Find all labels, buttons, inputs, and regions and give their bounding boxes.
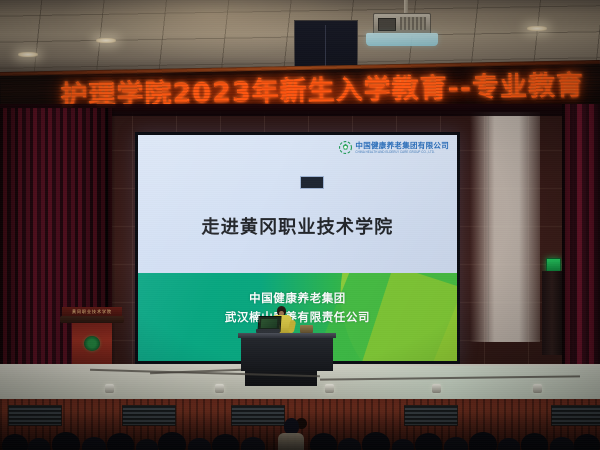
foreground-shadow (0, 406, 600, 450)
slide-title: 走进黄冈职业技术学院 (138, 213, 457, 239)
banner-text: 中国健康养老集团 武汉楠山康养有限责任公司 (138, 289, 457, 327)
slide-logo: 中国健康养老集团有限公司 CHINA HEALTH AND ELDERLY CA… (339, 141, 449, 154)
logo-text-en: CHINA HEALTH AND ELDERLY CARE GROUP CO.,… (355, 150, 449, 153)
logo-text-cn: 中国健康养老集团有限公司 (355, 142, 449, 150)
podium-emblem-icon (84, 336, 100, 351)
ceiling-projector (373, 13, 431, 35)
stage-footlight (432, 384, 441, 393)
stage-footlight (325, 384, 334, 393)
table-object (300, 325, 313, 333)
projection-screen-frame: 中国健康养老集团有限公司 CHINA HEALTH AND ELDERLY CA… (135, 132, 460, 364)
exit-light-stand (542, 271, 562, 355)
speaker-table-body (241, 338, 333, 371)
banner-line-1: 中国健康养老集团 (138, 289, 457, 308)
ceil-lamp-3 (527, 26, 547, 31)
right-wall-lit-section (470, 112, 540, 342)
stage-footlight (215, 384, 224, 393)
ceil-lamp-2 (18, 52, 38, 57)
slide-image-placeholder (300, 176, 324, 189)
projection-screen: 中国健康养老集团有限公司 CHINA HEALTH AND ELDERLY CA… (138, 135, 457, 361)
banner-line-2: 武汉楠山康养有限责任公司 (138, 308, 457, 327)
stage-footlight (533, 384, 542, 393)
ceil-lamp-1 (96, 38, 116, 43)
projector-lens-glow (366, 33, 438, 46)
projector-mount-stem (404, 0, 408, 14)
auditorium-photo: 护理学院2023年新生入学教育--专业教育 中国健康养老集团有 (0, 0, 600, 450)
company-logo-icon (339, 141, 352, 154)
stage-footlight (105, 384, 114, 393)
podium-top (60, 316, 124, 323)
stage-curtain-right (562, 104, 600, 372)
